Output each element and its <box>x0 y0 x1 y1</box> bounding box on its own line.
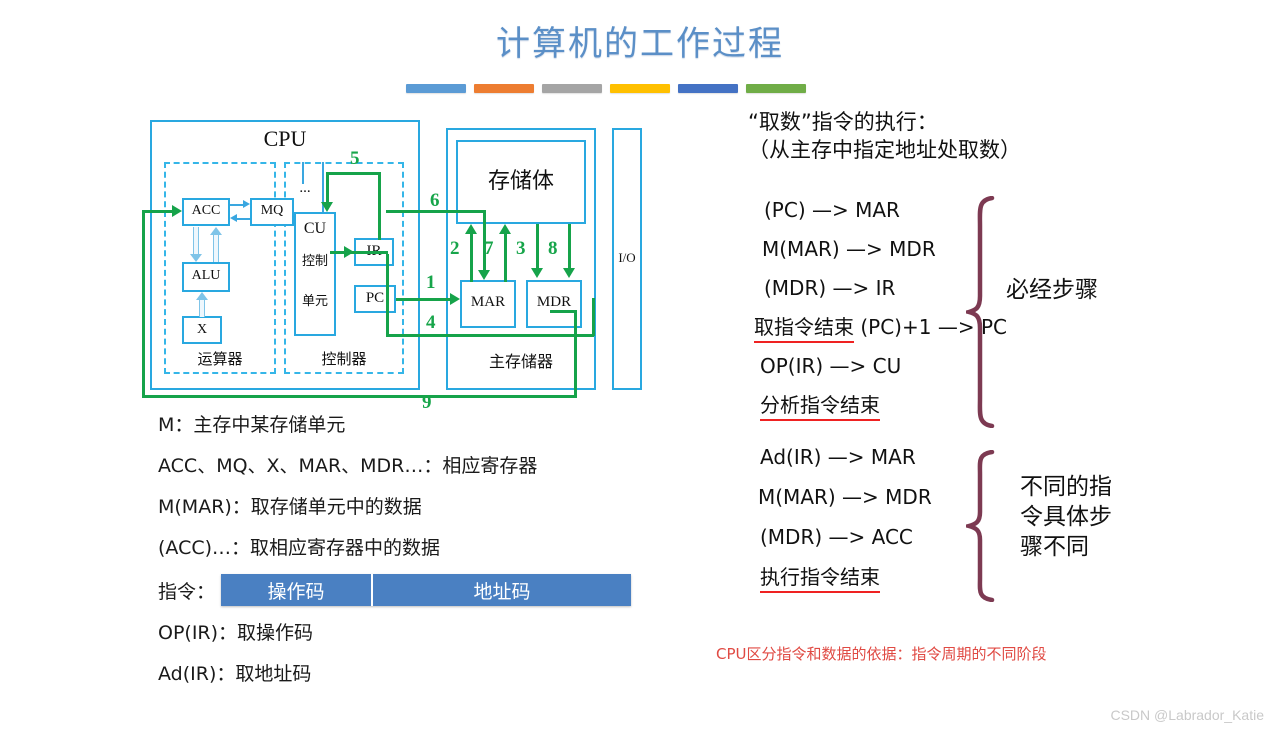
step-10-underlined-text: 执行指令结束 <box>760 565 880 593</box>
cpu-label: CPU <box>150 126 420 152</box>
flow-9-wire-h-right <box>550 310 577 313</box>
right-heading-line-1: “取数”指令的执行： <box>748 108 1218 136</box>
flow-7-wire <box>504 232 507 282</box>
register-acc-label: ACC <box>182 203 230 219</box>
flow-6-arrowhead <box>478 270 490 280</box>
right-heading-line-2: （从主存中指定地址处取数） <box>748 136 1218 164</box>
control-unit-cu-label: CU <box>294 220 336 238</box>
rule-bar-2 <box>474 84 534 93</box>
red-note: CPU区分指令和数据的依据：指令周期的不同阶段 <box>716 643 1047 664</box>
alu-unit-label: 运算器 <box>164 348 276 369</box>
step-8: M(MAR) —> MDR <box>758 487 932 507</box>
flow-number-2: 2 <box>450 238 460 260</box>
group-2-label-line-1: 不同的指 <box>1020 473 1112 503</box>
flow-number-1: 1 <box>426 272 436 294</box>
control-unit-cn-label-2: 单元 <box>294 290 336 309</box>
group-2-label-line-2: 令具体步 <box>1020 503 1112 533</box>
flow-9-wire-h-to-acc <box>142 210 174 213</box>
flow-8-wire <box>568 224 571 270</box>
instruction-format-bar: 操作码 地址码 <box>221 574 631 606</box>
cu-inputs-ellipsis: ... <box>290 180 320 197</box>
computer-architecture-diagram: CPU ACC MQ ALU X <box>150 120 670 410</box>
legend-line-2: ACC、MQ、X、MAR、MDR…：相应寄存器 <box>158 451 678 478</box>
flow-9-wire-v-right <box>574 310 577 398</box>
title-rule-bars <box>406 84 806 93</box>
step-8-text: M(MAR) —> MDR <box>758 485 932 509</box>
x-to-alu-hollow-arrow <box>196 292 208 317</box>
memory-bank-label: 存储体 <box>456 163 586 195</box>
brace-group-2-svg <box>966 450 1000 602</box>
step-7: Ad(IR) —> MAR <box>760 447 932 467</box>
brace-group-2 <box>966 450 1000 602</box>
legend-line-3: M(MAR)：取存储单元中的数据 <box>158 492 678 519</box>
flow-number-4: 4 <box>426 312 436 334</box>
legend-line-1: M：主存中某存储单元 <box>158 410 678 437</box>
flow-number-3: 3 <box>516 238 526 260</box>
flow-5-wire-v-cu <box>326 172 329 204</box>
address-cell: 地址码 <box>373 574 631 606</box>
alu-to-acc-hollow-arrow <box>210 227 222 262</box>
slide-root: 计算机的工作过程 CPU ACC MQ ALU X <box>0 0 1280 733</box>
group-2-label: 不同的指 令具体步 骤不同 <box>1020 473 1112 563</box>
flow-4-wire-v-right <box>592 298 595 336</box>
flow-3-wire <box>536 224 539 270</box>
flow-3-arrowhead <box>531 268 543 278</box>
legend-block: M：主存中某存储单元 ACC、MQ、X、MAR、MDR…：相应寄存器 M(MAR… <box>158 410 678 700</box>
mq-to-acc-arrowhead <box>230 214 237 222</box>
brace-group-1-svg <box>966 196 1000 428</box>
step-9: (MDR) —> ACC <box>760 527 932 547</box>
step-9-text: (MDR) —> ACC <box>760 525 913 549</box>
cu-input-wire-1 <box>302 162 304 184</box>
step-4-underlined-text: 取指令结束 <box>754 315 854 343</box>
register-mdr-label: MDR <box>526 294 582 311</box>
register-x-label: X <box>182 322 222 338</box>
flow-7-arrowhead <box>499 224 511 234</box>
flow-1-wire <box>396 298 454 301</box>
flow-9-arrowhead <box>172 205 182 217</box>
io-label: I/O <box>612 250 642 266</box>
rule-bar-3 <box>542 84 602 93</box>
flow-4-wire-h <box>386 334 594 337</box>
flow-2-arrowhead <box>465 224 477 234</box>
watermark: CSDN @Labrador_Katie <box>1110 707 1264 723</box>
acc-to-alu-hollow-arrow <box>190 227 202 262</box>
opcode-cell: 操作码 <box>221 574 373 606</box>
right-panel: “取数”指令的执行： （从主存中指定地址处取数） <box>748 108 1218 165</box>
step-2-text: M(MAR) —> MDR <box>762 237 936 261</box>
control-unit-group-label: 控制器 <box>284 348 404 369</box>
flow-9-wire-v-left <box>142 212 145 398</box>
rule-bar-5 <box>678 84 738 93</box>
flow-number-6: 6 <box>430 190 440 212</box>
step-5-text: OP(IR) —> CU <box>760 354 901 378</box>
rule-bar-6 <box>746 84 806 93</box>
step-3-text: (MDR) —> IR <box>764 276 895 300</box>
register-mar-label: MAR <box>460 294 516 311</box>
flow-8-arrowhead <box>563 268 575 278</box>
legend-op-line: OP(IR)：取操作码 <box>158 618 678 645</box>
rule-bar-1 <box>406 84 466 93</box>
step-1-text: (PC) —> MAR <box>764 198 900 222</box>
flow-5-wire-h <box>326 172 381 175</box>
step-10: 执行指令结束 <box>760 567 932 587</box>
acc-to-mq-wire <box>230 204 244 206</box>
group-1-label: 必经步骤 <box>1006 276 1098 306</box>
mq-to-acc-wire <box>236 218 250 220</box>
flow-9-wire-h-bottom <box>142 395 577 398</box>
rule-bar-4 <box>610 84 670 93</box>
instruction-format-row: 指令： 操作码 地址码 <box>158 574 678 606</box>
legend-ad-line: Ad(IR)：取地址码 <box>158 659 678 686</box>
register-alu-label: ALU <box>182 268 230 284</box>
instruction-format-label: 指令： <box>158 577 215 604</box>
execute-steps-group-2: Ad(IR) —> MAR M(MAR) —> MDR (MDR) —> ACC… <box>760 447 932 587</box>
register-pc-label: PC <box>354 290 396 307</box>
legend-line-4: (ACC)…：取相应寄存器中的数据 <box>158 533 678 560</box>
page-title: 计算机的工作过程 <box>0 16 1280 65</box>
flow-number-7: 7 <box>484 238 494 260</box>
acc-to-mq-arrowhead <box>243 200 250 208</box>
flow-5-arrowhead <box>321 202 333 212</box>
flow-1-arrowhead <box>450 293 460 305</box>
brace-group-1 <box>966 196 1000 428</box>
step-7-text: Ad(IR) —> MAR <box>760 445 916 469</box>
step-6-underlined-text: 分析指令结束 <box>760 393 880 421</box>
flow-number-5: 5 <box>350 148 360 170</box>
group-2-label-line-3: 骤不同 <box>1020 533 1112 563</box>
flow-5-wire-v-ir <box>378 172 381 240</box>
register-mq-label: MQ <box>250 203 294 219</box>
flow-number-8: 8 <box>548 238 558 260</box>
flow-4-wire-v-left <box>386 254 389 336</box>
flow-4-arrowhead <box>344 246 354 258</box>
flow-4-wire-h-to-ir <box>330 251 388 254</box>
flow-2-wire <box>470 232 473 282</box>
